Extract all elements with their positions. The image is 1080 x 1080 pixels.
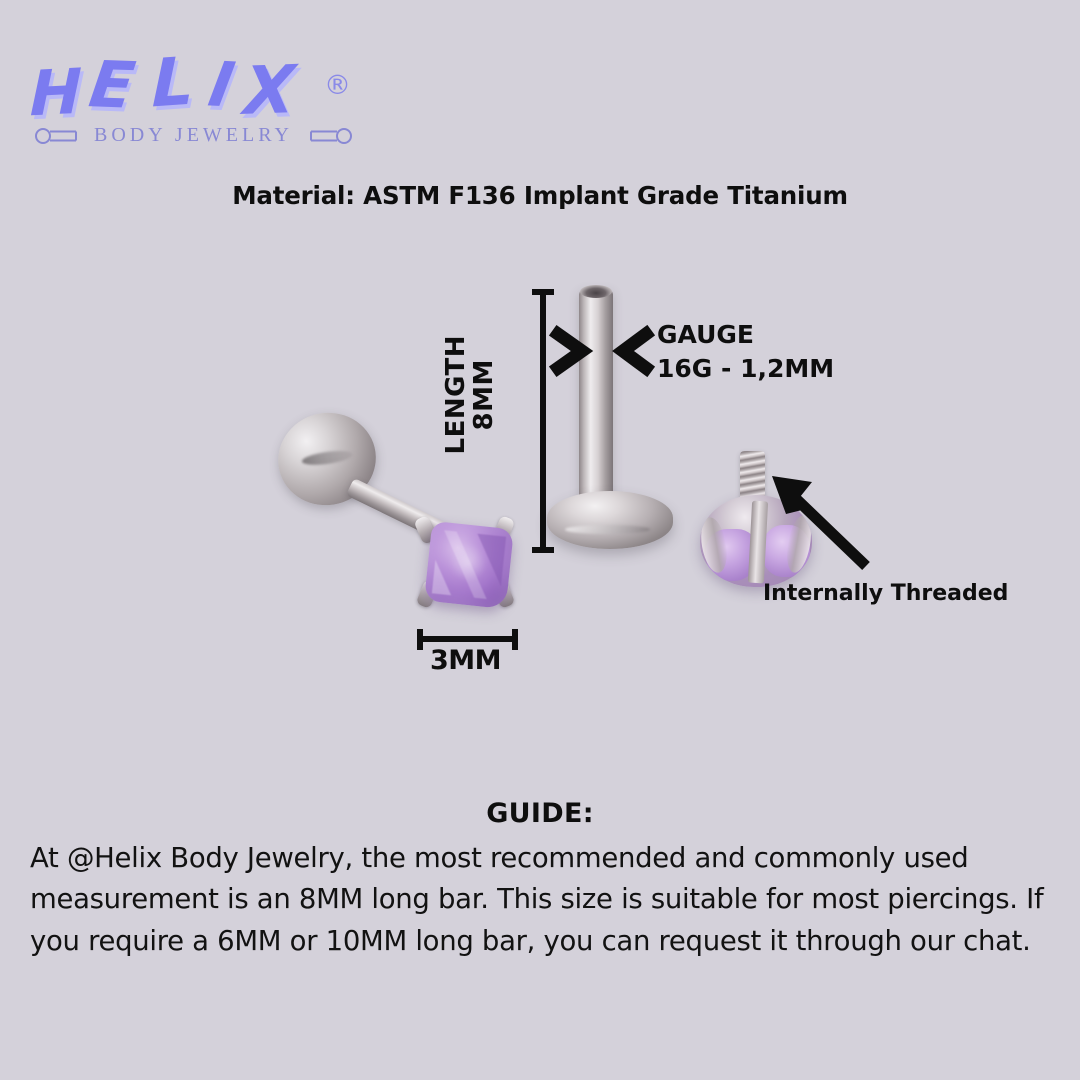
logo-letter-l: L [151,48,193,117]
brand-logo[interactable]: H E L I X ® BODY JEWELRY [28,48,388,163]
guide-body-text: At @Helix Body Jewelry, the most recomme… [30,838,1050,962]
barbell-icon-right [307,126,353,146]
material-title: Material: ASTM F136 Implant Grade Titani… [0,181,1080,210]
gem-head [700,495,812,587]
logo-letter-x: X [242,57,295,125]
length-label-line2: 8MM [469,359,499,430]
purple-gem [424,521,514,609]
registered-trademark-icon: ® [324,70,351,101]
diameter-label: 3MM [430,645,501,676]
bar-shaft [579,289,613,511]
prong-bridge [748,501,768,584]
internally-threaded-label: Internally Threaded [763,581,1008,606]
brand-tagline-row: BODY JEWELRY [34,124,353,147]
page-canvas: H E L I X ® BODY JEWELRY Material: ASTM [0,0,1080,1080]
internal-thread-hole [580,285,612,298]
flat-back-base [547,491,673,549]
brand-tagline: BODY JEWELRY [94,124,293,147]
length-label: LENGTH8MM [442,335,498,454]
logo-wordmark: H E L I X ® [28,48,358,118]
gauge-value: 16G - 1,2MM [657,352,834,386]
logo-letter-i: I [205,54,238,117]
threaded-gem-top [690,451,840,591]
gauge-title: GAUGE [657,318,834,352]
barbell-icon-left [34,126,80,146]
product-diagram [0,255,1080,695]
length-label-line1: LENGTH [441,335,471,454]
gauge-label: GAUGE 16G - 1,2MM [657,318,834,386]
prong-rim [783,514,812,575]
logo-letter-e: E [86,53,138,118]
logo-letter-h: H [29,61,81,126]
guide-heading: GUIDE: [0,798,1080,829]
